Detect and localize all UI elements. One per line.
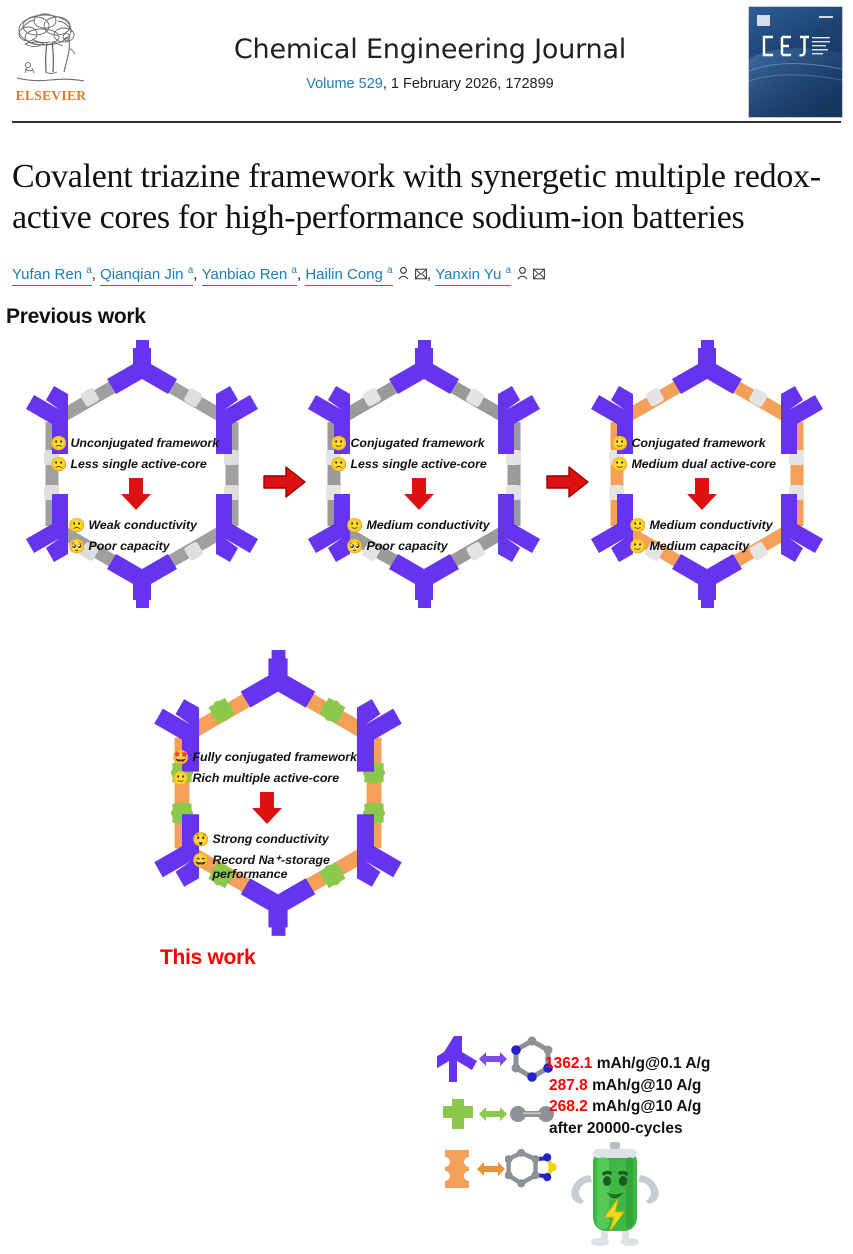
- benzothiadiazole-ring-icon: [505, 1145, 557, 1193]
- issue-date-text: , 1 February 2026, 172899: [383, 76, 554, 92]
- panel-3-item-0: 🙂Conjugated framework: [611, 436, 826, 450]
- metric-row-2: 268.2 mAh/g@10 A/g: [545, 1096, 845, 1118]
- frowning-face-icon: 🙁: [50, 436, 67, 450]
- panel-2-item-0: 🙂Conjugated framework: [330, 436, 540, 450]
- battery-mascot: [556, 1141, 674, 1249]
- panel-1-text: 🙁Unconjugated framework 🙁Less single act…: [50, 436, 250, 560]
- slightly-smiling-face-icon: 🙂: [629, 539, 646, 553]
- header-divider: [12, 121, 841, 123]
- panel-this-result-0: 😲Strong conductivity: [192, 832, 402, 846]
- author-3[interactable]: Yanbiao Ren a: [202, 261, 297, 285]
- author-separator: ,: [193, 266, 201, 283]
- slightly-smiling-face-icon: 🙂: [330, 436, 347, 450]
- block-orange-icon: [437, 1149, 477, 1189]
- flexing-battery-icon: [556, 1141, 674, 1249]
- panel-previous-2: 🙂Conjugated framework 🙁Less single activ…: [290, 340, 558, 640]
- frowning-face-icon: 🙁: [50, 457, 67, 471]
- page-title: Covalent triazine framework with synerge…: [12, 156, 842, 238]
- pleading-face-icon: 🥺: [346, 539, 363, 553]
- panel-2-result-1: 🥺Poor capacity: [346, 539, 540, 553]
- author-1[interactable]: Yufan Ren a: [12, 261, 92, 285]
- panel-2-item-1: 🙁Less single active-core: [330, 457, 540, 471]
- panel-1-result-1: 🥺Poor capacity: [68, 539, 250, 553]
- panel-this-result-1: 😄Record Na⁺-storage performance: [192, 853, 342, 881]
- author-email-icon[interactable]: [530, 267, 546, 282]
- astonished-face-icon: 😲: [192, 832, 209, 846]
- smiling-face-icon: 🙂: [172, 771, 189, 785]
- graphical-abstract: Previous work This work: [0, 305, 853, 960]
- slightly-smiling-face-icon: 🙂: [346, 518, 363, 532]
- elsevier-tree-icon: [12, 8, 90, 86]
- frowning-face-icon: 🙁: [68, 518, 85, 532]
- previous-work-label: Previous work: [6, 305, 146, 329]
- journal-cover-thumbnail[interactable]: [748, 6, 843, 118]
- author-5[interactable]: Yanxin Yu a: [435, 261, 545, 285]
- metric-row-1: 287.8 mAh/g@10 A/g: [545, 1075, 845, 1097]
- author-affiliation-marker[interactable]: a: [387, 265, 393, 276]
- legend-row-alkyne: [437, 1086, 557, 1141]
- panel-this-work: 🤩Fully conjugated framework 🙂Rich multip…: [128, 650, 428, 970]
- performance-metrics: 1362.1 mAh/g@0.1 A/g 287.8 mAh/g@10 A/g …: [545, 1053, 845, 1139]
- panel-previous-1: 🙁Unconjugated framework 🙁Less single act…: [8, 340, 276, 640]
- grinning-face-icon: 😄: [192, 853, 209, 867]
- slightly-smiling-face-icon: 🙂: [611, 457, 628, 471]
- page-header: ELSEVIER Chemical Engineering Journal Vo…: [0, 0, 853, 122]
- legend-row-benzothiadiazole: [437, 1141, 557, 1196]
- author-2[interactable]: Qianqian Jin a: [100, 261, 193, 285]
- legend-row-triazine: [437, 1031, 557, 1086]
- journal-title: Chemical Engineering Journal: [150, 34, 710, 65]
- down-arrow-icon: [611, 478, 789, 510]
- author-profile-icon[interactable]: [395, 267, 410, 282]
- article-header: Covalent triazine framework with synerge…: [12, 133, 842, 285]
- panel-3-item-1: 🙂Medium dual active-core: [611, 457, 826, 471]
- elsevier-wordmark: ELSEVIER: [12, 88, 90, 104]
- panel-1-item-1: 🙁Less single active-core: [50, 457, 250, 471]
- panel-3-result-1: 🙂Medium capacity: [629, 539, 826, 553]
- legend-arrow-purple-icon: [479, 1051, 507, 1067]
- panel-this-item-0: 🤩Fully conjugated framework: [172, 750, 402, 764]
- panel-1-result-0: 🙁Weak conductivity: [68, 518, 250, 532]
- author-separator: ,: [427, 266, 435, 283]
- author-separator: ,: [92, 266, 100, 283]
- legend-arrow-green-icon: [479, 1106, 507, 1122]
- author-name[interactable]: Yufan Ren a: [12, 266, 92, 286]
- frowning-face-icon: 🙁: [330, 457, 347, 471]
- metric-row-2-note: after 20000-cycles: [545, 1118, 845, 1140]
- journal-issue-meta: Volume 529, 1 February 2026, 172899: [150, 76, 710, 92]
- author-separator: ,: [297, 266, 305, 283]
- legend-arrow-orange-icon: [477, 1161, 505, 1177]
- slightly-smiling-face-icon: 🙂: [611, 436, 628, 450]
- panel-2-result-0: 🙂Medium conductivity: [346, 518, 540, 532]
- author-profile-icon[interactable]: [513, 267, 528, 282]
- structure-legend: [437, 1031, 557, 1196]
- author-name[interactable]: Yanxin Yu a: [435, 266, 511, 286]
- panel-this-work-text: 🤩Fully conjugated framework 🙂Rich multip…: [172, 750, 402, 888]
- author-4[interactable]: Hailin Cong a: [305, 261, 427, 285]
- y-node-purple-icon: [437, 1036, 479, 1082]
- elsevier-logo[interactable]: ELSEVIER: [12, 8, 90, 110]
- down-arrow-icon: [50, 478, 220, 510]
- author-name[interactable]: Hailin Cong a: [305, 266, 392, 286]
- author-name[interactable]: Yanbiao Ren a: [202, 266, 297, 286]
- author-email-icon[interactable]: [411, 267, 427, 282]
- panel-3-result-0: 🙂Medium conductivity: [629, 518, 826, 532]
- journal-block: Chemical Engineering Journal Volume 529,…: [150, 34, 710, 92]
- puzzle-green-icon: [437, 1098, 479, 1130]
- panel-2-text: 🙂Conjugated framework 🙁Less single activ…: [330, 436, 540, 560]
- slightly-smiling-face-icon: 🙂: [629, 518, 646, 532]
- cej-cover-art: [749, 7, 842, 117]
- pleading-face-icon: 🥺: [68, 539, 85, 553]
- metric-row-0: 1362.1 mAh/g@0.1 A/g: [545, 1053, 845, 1075]
- author-affiliation-marker[interactable]: a: [506, 265, 512, 276]
- panel-1-item-0: 🙁Unconjugated framework: [50, 436, 250, 450]
- panel-this-item-1: 🙂Rich multiple active-core: [172, 771, 402, 785]
- down-arrow-icon: [172, 792, 362, 824]
- star-struck-face-icon: 🤩: [172, 750, 189, 764]
- down-arrow-icon: [330, 478, 505, 510]
- panel-previous-3: 🙂Conjugated framework 🙂Medium dual activ…: [573, 340, 841, 640]
- panel-3-text: 🙂Conjugated framework 🙂Medium dual activ…: [611, 436, 826, 560]
- author-name[interactable]: Qianqian Jin a: [100, 266, 193, 286]
- volume-link[interactable]: Volume 529: [306, 76, 383, 92]
- author-list: Yufan Ren a, Qianqian Jin a, Yanbiao Ren…: [12, 261, 842, 285]
